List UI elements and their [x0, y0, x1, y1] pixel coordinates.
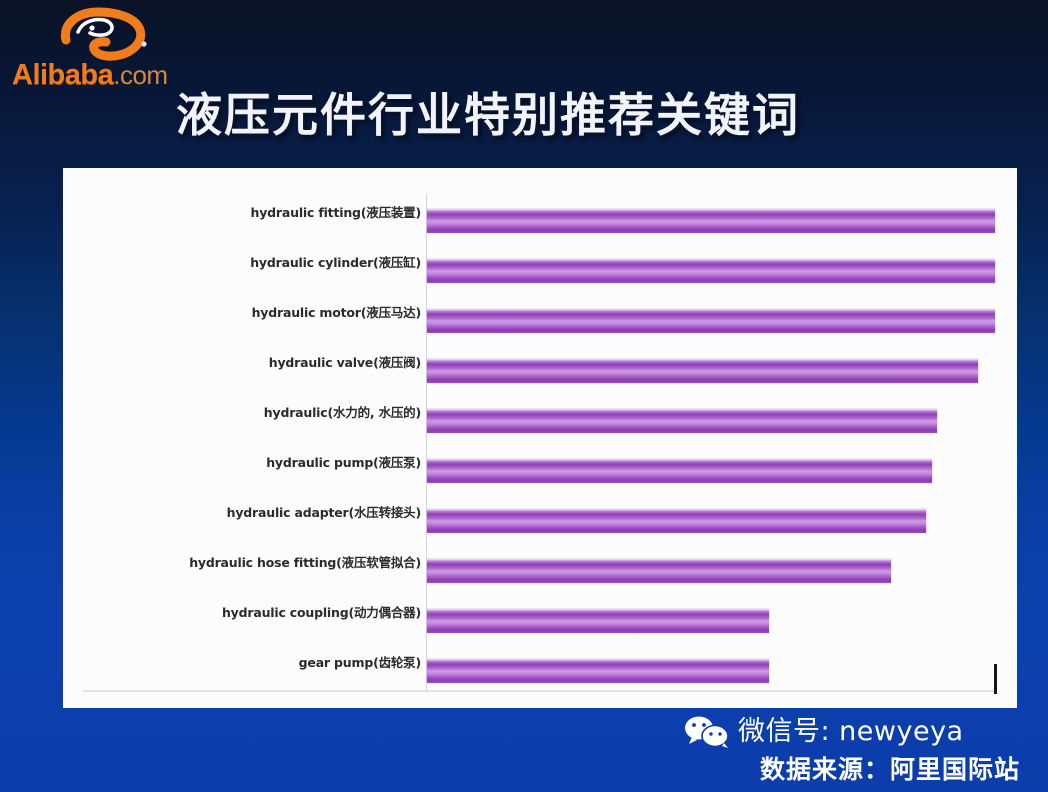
bar — [427, 509, 926, 533]
logo-text-main: Alibaba — [12, 59, 113, 91]
bar — [427, 659, 769, 683]
wechat-label: 微信号: newyeya — [738, 715, 964, 749]
bar — [427, 209, 995, 233]
category-label: hydraulic cylinder(液压缸) — [91, 254, 421, 272]
alibaba-logo: Alibaba.com — [8, 6, 198, 90]
bar-track — [427, 359, 1007, 383]
bar — [427, 409, 937, 433]
bar-track — [427, 459, 1007, 483]
bar — [427, 459, 932, 483]
bar — [427, 359, 978, 383]
bar-track — [427, 509, 1007, 533]
chart-row: hydraulic(水力的, 水压的) — [63, 396, 1017, 446]
alibaba-smiley-icon — [56, 6, 152, 62]
bar-track — [427, 309, 1007, 333]
wechat-icon — [684, 715, 730, 749]
category-label: hydraulic hose fitting(液压软管拟合) — [91, 554, 421, 572]
category-label: hydraulic adapter(水压转接头) — [91, 504, 421, 522]
chart-row: hydraulic cylinder(液压缸) — [63, 246, 1017, 296]
footer: 微信号: newyeya 数据来源：阿里国际站 — [660, 712, 1048, 792]
chart-row: hydraulic fitting(液压装置) — [63, 196, 1017, 246]
chart-row: hydraulic coupling(动力偶合器) — [63, 596, 1017, 646]
page-title: 液压元件行业特别推荐关键词 — [176, 84, 936, 146]
category-label: gear pump(齿轮泵) — [91, 654, 421, 672]
bar — [427, 309, 995, 333]
bar — [427, 559, 891, 583]
bar — [427, 259, 995, 283]
category-label: hydraulic valve(液压阀) — [91, 354, 421, 372]
category-label: hydraulic coupling(动力偶合器) — [91, 604, 421, 622]
slide-canvas: Alibaba.com 液压元件行业特别推荐关键词 hydraulic fitt… — [0, 0, 1048, 792]
chart-row: gear pump(齿轮泵) — [63, 646, 1017, 696]
chart-row: hydraulic motor(液压马达) — [63, 296, 1017, 346]
category-label: hydraulic pump(液压泵) — [91, 454, 421, 472]
wechat-line: 微信号: newyeya — [684, 712, 964, 752]
bar-track — [427, 209, 1007, 233]
logo-text-suffix: .com — [113, 60, 167, 90]
chart-row: hydraulic adapter(水压转接头) — [63, 496, 1017, 546]
bar-track — [427, 259, 1007, 283]
bar-track — [427, 559, 1007, 583]
category-label: hydraulic(水力的, 水压的) — [91, 404, 421, 422]
chart-row: hydraulic valve(液压阀) — [63, 346, 1017, 396]
bar-track — [427, 409, 1007, 433]
bar-track — [427, 609, 1007, 633]
category-label: hydraulic motor(液压马达) — [91, 304, 421, 322]
bar — [427, 609, 769, 633]
chart-panel: hydraulic fitting(液压装置)hydraulic cylinde… — [63, 168, 1017, 708]
chart-row: hydraulic hose fitting(液压软管拟合) — [63, 546, 1017, 596]
chart-row: hydraulic pump(液压泵) — [63, 446, 1017, 496]
source-label: 数据来源：阿里国际站 — [760, 752, 1048, 788]
category-label: hydraulic fitting(液压装置) — [91, 204, 421, 222]
bar-track — [427, 659, 1007, 683]
bar-chart: hydraulic fitting(液压装置)hydraulic cylinde… — [63, 168, 1017, 708]
alibaba-wordmark: Alibaba.com — [12, 60, 194, 90]
